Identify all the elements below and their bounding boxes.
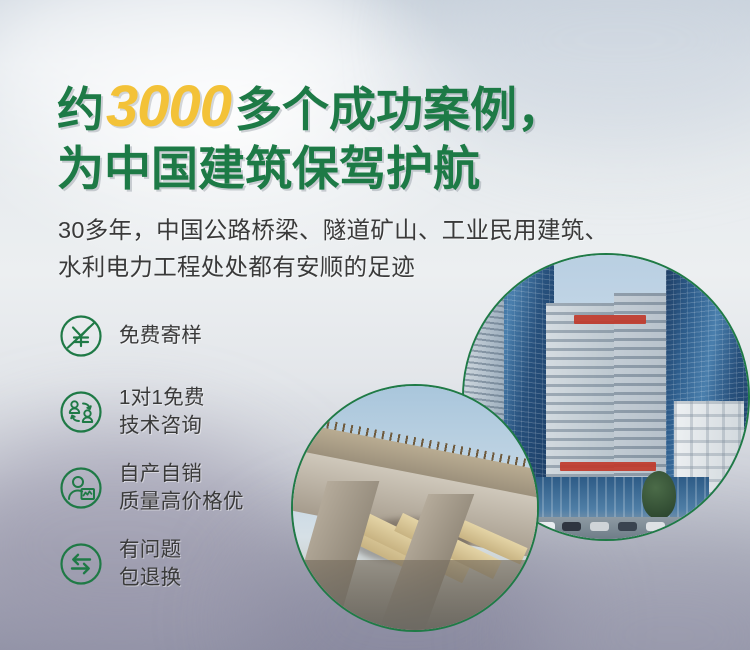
subtitle-line-1: 30多年，中国公路桥梁、隧道矿山、工业民用建筑、 xyxy=(58,212,608,249)
entrance-sign xyxy=(560,462,656,471)
feature-item-free-sample[interactable]: 免费寄样 xyxy=(58,298,244,374)
car xyxy=(562,522,581,531)
promo-banner: 约3000多个成功案例， 为中国建筑保驾护航 30多年，中国公路桥梁、隧道矿山、… xyxy=(0,0,750,650)
feature-item-return-exchange[interactable]: 有问题 包退换 xyxy=(58,526,244,602)
feature-list: 免费寄样 1对1免费 技术咨询 xyxy=(58,298,244,602)
bridge-photo-content xyxy=(293,386,537,630)
feature-line-1: 免费寄样 xyxy=(119,322,202,350)
feature-item-self-produce[interactable]: 自产自销 质量高价格优 xyxy=(58,450,244,526)
tree xyxy=(642,471,676,519)
self-produce-sell-icon xyxy=(58,465,104,511)
feature-line-1: 有问题 xyxy=(119,536,181,564)
car xyxy=(536,522,555,531)
feature-item-consult[interactable]: 1对1免费 技术咨询 xyxy=(58,374,244,450)
car xyxy=(590,522,609,531)
feature-line-2: 质量高价格优 xyxy=(119,488,244,516)
feature-text: 自产自销 质量高价格优 xyxy=(119,460,244,517)
car xyxy=(646,522,665,531)
feature-line-1: 1对1免费 xyxy=(119,384,205,412)
background-blur-blob xyxy=(520,540,750,650)
headline-line-2: 为中国建筑保驾护航 xyxy=(57,145,564,192)
feature-text: 1对1免费 技术咨询 xyxy=(119,384,205,441)
bridge-photo xyxy=(291,384,539,632)
feature-line-2: 包退换 xyxy=(119,564,181,592)
feature-text: 有问题 包退换 xyxy=(119,536,181,593)
headline-suffix: 多个成功案例， xyxy=(235,83,564,136)
feature-text: 免费寄样 xyxy=(119,322,202,350)
feature-line-2: 技术咨询 xyxy=(119,412,205,440)
headline-line-1: 约3000多个成功案例， xyxy=(57,78,564,136)
rooftop-sign xyxy=(574,315,646,324)
subtitle: 30多年，中国公路桥梁、隧道矿山、工业民用建筑、 水利电力工程处处都有安顺的足迹 xyxy=(58,212,608,286)
headline-prefix: 约 xyxy=(57,83,104,136)
free-sample-icon xyxy=(58,313,104,359)
subtitle-line-2: 水利电力工程处处都有安顺的足迹 xyxy=(58,249,608,286)
headline: 约3000多个成功案例， 为中国建筑保驾护航 xyxy=(57,78,564,192)
return-exchange-icon xyxy=(58,541,104,587)
one-to-one-consult-icon xyxy=(58,389,104,435)
car xyxy=(618,522,637,531)
ground-dirt xyxy=(293,560,537,630)
headline-number: 3000 xyxy=(104,74,235,139)
feature-line-1: 自产自销 xyxy=(119,460,244,488)
